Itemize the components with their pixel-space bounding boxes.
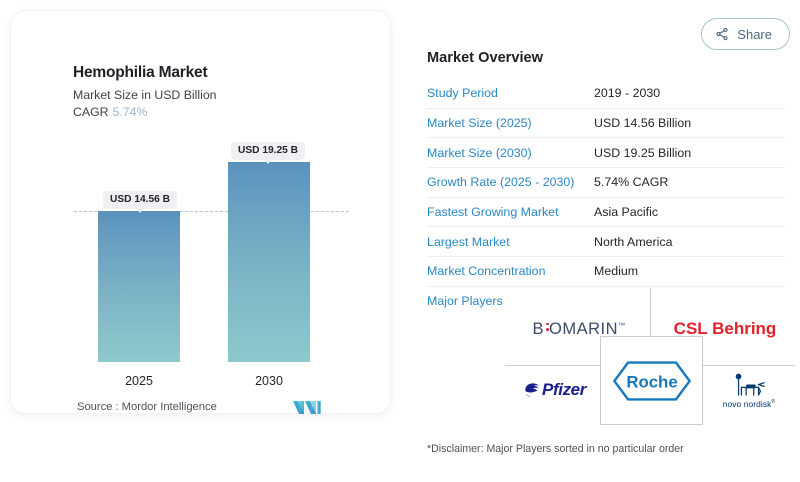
novo-nordisk-wordmark: novo nordisk® (723, 399, 775, 409)
bar-2025[interactable] (98, 211, 180, 362)
pfizer-wordmark: Pfizer (542, 380, 586, 400)
row-value: North America (594, 235, 673, 249)
roche-wordmark: Roche (626, 372, 677, 391)
table-row: Market Size (2030) USD 19.25 Billion (427, 138, 785, 168)
biomarin-dot-lower (546, 328, 549, 331)
row-value: Medium (594, 264, 638, 278)
row-key: Study Period (427, 86, 594, 100)
table-row: Study Period 2019 - 2030 (427, 79, 785, 109)
roche-logo-icon: Roche (612, 360, 692, 402)
share-nodes-icon (715, 27, 729, 41)
table-row: Largest Market North America (427, 227, 785, 257)
chart-cagr: CAGR5.74% (73, 105, 147, 119)
reference-line (74, 211, 349, 212)
overview-table: Study Period 2019 - 2030 Market Size (20… (427, 79, 785, 316)
x-axis-tick-2030: 2030 (228, 374, 310, 388)
bar-value-label-2025: USD 14.56 B (103, 191, 177, 209)
biomarin-dot-upper (546, 323, 549, 326)
row-value: 5.74% CAGR (594, 175, 668, 189)
overview-title: Market Overview (427, 50, 543, 66)
row-value: USD 14.56 Billion (594, 116, 691, 130)
row-key: Largest Market (427, 235, 594, 249)
chart-subtitle: Market Size in USD Billion (73, 88, 217, 102)
screenshot-root: Hemophilia Market Market Size in USD Bil… (0, 0, 800, 482)
chart-card: Hemophilia Market Market Size in USD Bil… (11, 11, 390, 413)
player-pfizer: Pfizer (511, 372, 597, 408)
disclaimer-text: *Disclaimer: Major Players sorted in no … (427, 443, 684, 455)
major-players-collage: B OMARIN™ CSL Behring Pfizer (505, 288, 795, 423)
table-row: Fastest Growing Market Asia Pacific (427, 198, 785, 228)
source-name: Mordor Intelligence (122, 401, 217, 413)
source-label: Source : (77, 401, 119, 413)
row-key: Growth Rate (2025 - 2030) (427, 175, 594, 189)
chart-title: Hemophilia Market (73, 64, 207, 82)
row-value: USD 19.25 Billion (594, 146, 691, 160)
table-row: Market Concentration Medium (427, 257, 785, 287)
x-axis-tick-2025: 2025 (98, 374, 180, 388)
cagr-label: CAGR (73, 105, 109, 119)
share-button[interactable]: Share (701, 18, 790, 50)
row-key: Market Size (2025) (427, 116, 594, 130)
row-value: 2019 - 2030 (594, 86, 660, 100)
bar-value-label-2030: USD 19.25 B (231, 142, 305, 160)
row-key: Market Concentration (427, 264, 594, 278)
biomarin-trademark: ™ (618, 322, 626, 329)
row-key: Fastest Growing Market (427, 205, 594, 219)
market-overview-panel: Share Market Overview Study Period 2019 … (410, 0, 800, 482)
pfizer-mark-icon (522, 380, 542, 400)
row-key: Market Size (2030) (427, 146, 594, 160)
cagr-value: 5.74% (113, 105, 148, 119)
chart-source: Source :Mordor Intelligence (77, 401, 217, 413)
row-value: Asia Pacific (594, 205, 658, 219)
mordor-intelligence-logo-icon (292, 399, 322, 416)
table-row: Market Size (2025) USD 14.56 Billion (427, 109, 785, 139)
novo-nordisk-bull-icon (730, 372, 768, 399)
table-row: Growth Rate (2025 - 2030) 5.74% CAGR (427, 168, 785, 198)
bar-2030[interactable] (228, 162, 310, 362)
player-novo-nordisk: novo nordisk® (705, 366, 793, 414)
share-button-label: Share (737, 27, 772, 42)
player-roche: Roche (600, 336, 703, 425)
